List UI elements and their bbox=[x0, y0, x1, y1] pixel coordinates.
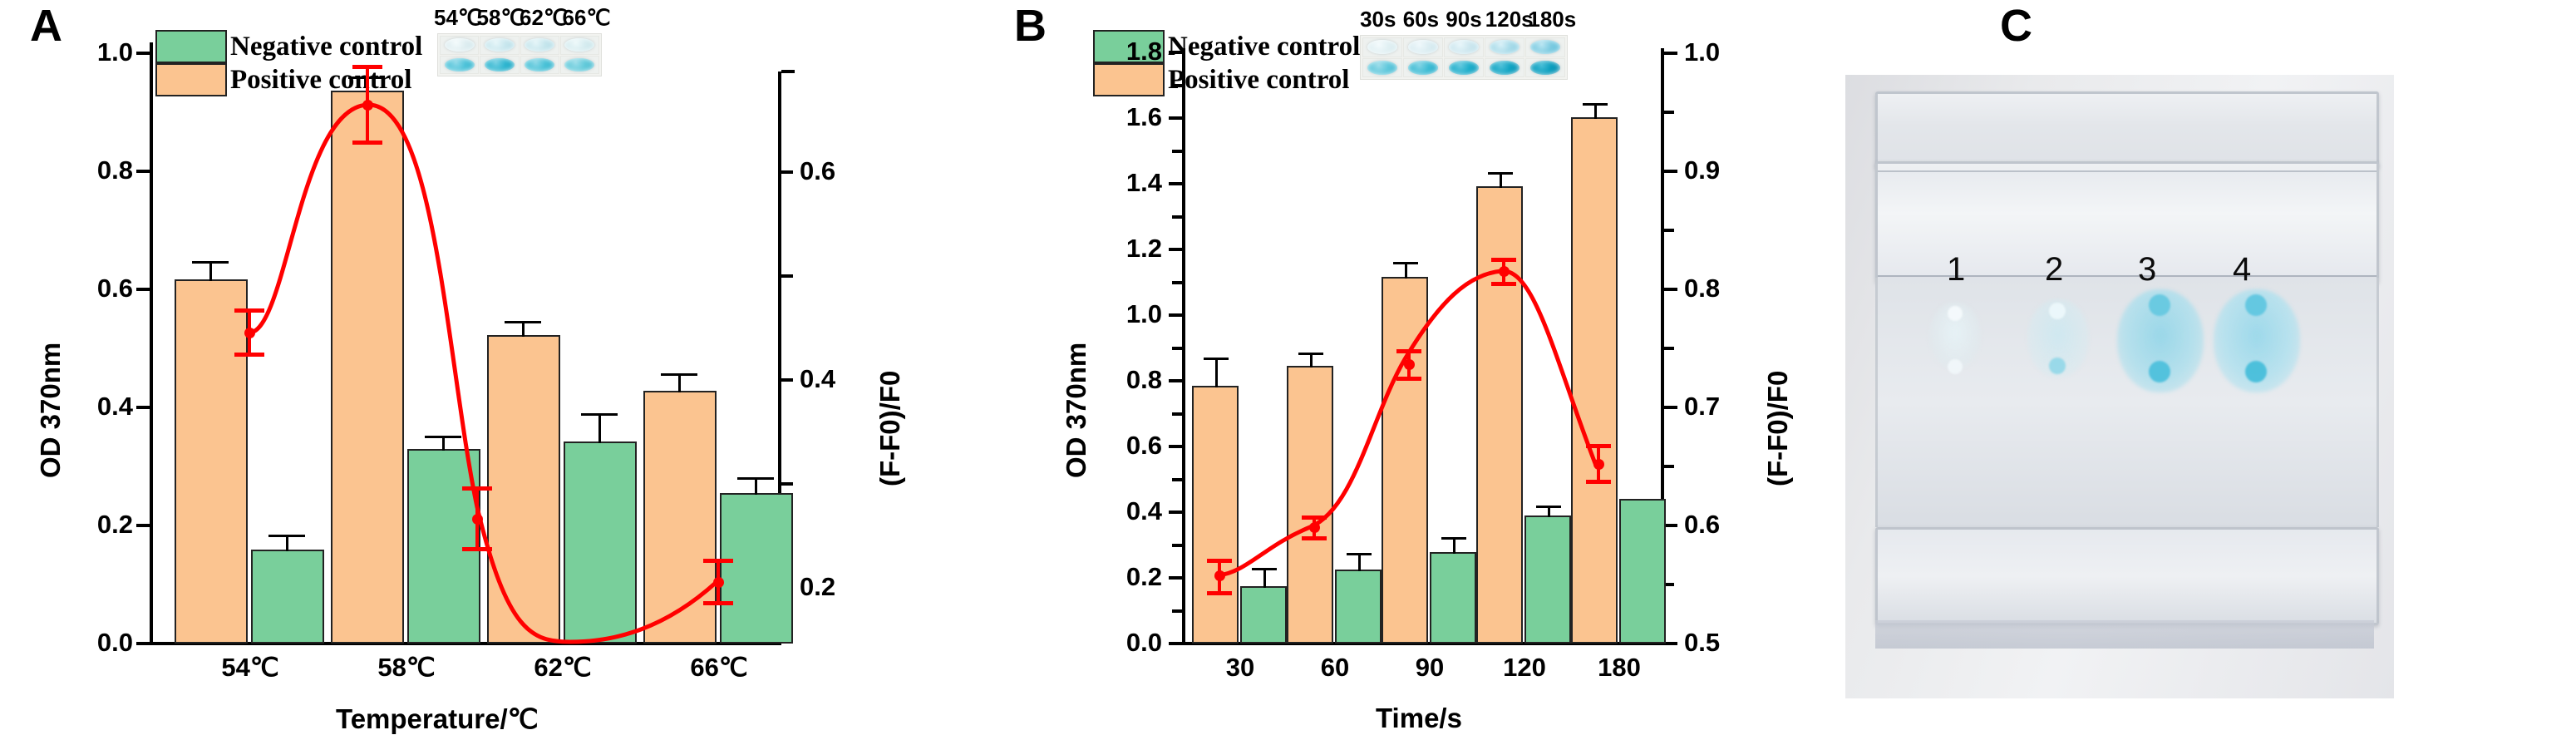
panel-a-xticklabel-2: 58℃ bbox=[361, 653, 452, 683]
panel-b-xticklabel-4: 120 bbox=[1478, 653, 1571, 683]
chip-bottom-shadow bbox=[1875, 620, 2374, 649]
panel-a-xticklabel-4: 66℃ bbox=[673, 653, 765, 683]
panel-c-device-photo: 1 2 3 4 bbox=[1845, 75, 2394, 698]
panel-a-red-marker-54 bbox=[244, 328, 255, 338]
spot-core-lane-4-top bbox=[2245, 294, 2267, 316]
chip-bottom-frame bbox=[1875, 527, 2379, 625]
panel-a: A Negative control Positive control 54℃ … bbox=[0, 0, 973, 734]
spot-core-lane-3-bottom bbox=[2149, 361, 2170, 382]
figure-root: A Negative control Positive control 54℃ … bbox=[0, 0, 2576, 734]
panel-b-x-axis-title: Time/s bbox=[1376, 703, 1462, 734]
panel-b-xticklabel-5: 180 bbox=[1573, 653, 1666, 683]
lane-number-2: 2 bbox=[2045, 251, 2063, 289]
panel-a-red-marker-62 bbox=[472, 514, 483, 525]
panel-a-xticklabel-3: 62℃ bbox=[517, 653, 608, 683]
panel-a-overlay-curve bbox=[0, 0, 973, 734]
spot-core-lane-4-bottom bbox=[2245, 361, 2267, 382]
spot-core-lane-2-bottom bbox=[2049, 358, 2066, 374]
panel-b-red-marker-90 bbox=[1404, 359, 1415, 370]
panel-b-red-marker-30 bbox=[1214, 570, 1225, 581]
panel-a-red-marker-66 bbox=[713, 577, 724, 588]
lane-number-3: 3 bbox=[2138, 251, 2156, 289]
spot-core-lane-3-top bbox=[2149, 294, 2170, 316]
chip-top-frame bbox=[1875, 91, 2379, 168]
panel-b: B Negative control Positive control 30s … bbox=[973, 0, 1845, 734]
panel-c: C bbox=[1845, 0, 2576, 734]
panel-a-x-axis-title: Temperature/℃ bbox=[336, 703, 539, 735]
spot-core-lane-1-top bbox=[1948, 306, 1963, 321]
panel-b-red-marker-60 bbox=[1309, 522, 1320, 533]
lane-number-4: 4 bbox=[2233, 251, 2251, 289]
panel-b-xticklabel-2: 60 bbox=[1288, 653, 1382, 683]
lane-number-1: 1 bbox=[1947, 251, 1965, 289]
chip-detection-area bbox=[1875, 278, 2379, 527]
panel-a-red-marker-58 bbox=[362, 100, 373, 111]
spot-core-lane-1-bottom bbox=[1948, 359, 1963, 374]
panel-b-xticklabel-1: 30 bbox=[1194, 653, 1287, 683]
panel-b-red-marker-180 bbox=[1593, 459, 1604, 470]
spot-core-lane-2-top bbox=[2049, 303, 2066, 319]
panel-c-letter: C bbox=[2000, 3, 2032, 48]
panel-b-red-marker-120 bbox=[1499, 266, 1510, 277]
panel-b-xticklabel-3: 90 bbox=[1383, 653, 1476, 683]
panel-a-xticklabel-1: 54℃ bbox=[204, 653, 296, 683]
